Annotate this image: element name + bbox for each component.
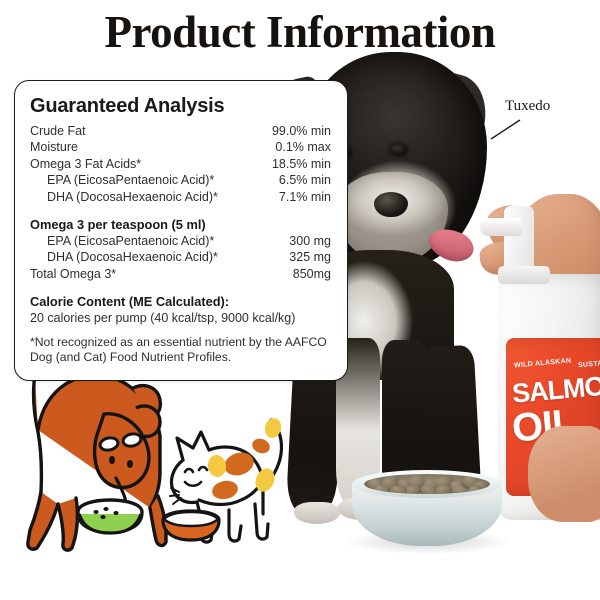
row-label: Omega 3 Fat Acids* xyxy=(30,156,141,172)
leader-line-icon xyxy=(488,118,522,142)
calorie-content-text: 20 calories per pump (40 kcal/tsp, 9000 … xyxy=(30,310,331,326)
table-row: Omega 3 Fat Acids* 18.5% min xyxy=(30,156,331,172)
cartoon-dog-bowl xyxy=(78,500,142,533)
table-row: Moisture 0.1% max xyxy=(30,139,331,155)
analysis-rows: Crude Fat 99.0% min Moisture 0.1% max Om… xyxy=(30,123,331,205)
guaranteed-analysis-panel: Guaranteed Analysis Crude Fat 99.0% min … xyxy=(14,80,348,381)
table-row: Crude Fat 99.0% min xyxy=(30,123,331,139)
row-value: 7.1% min xyxy=(279,189,331,205)
row-label: EPA (EicosaPentaenoic Acid)* xyxy=(30,172,214,188)
table-row: DHA (DocosaHexaenoic Acid)* 7.1% min xyxy=(30,189,331,205)
row-label: DHA (DocosaHexaenoic Acid)* xyxy=(30,189,218,205)
bottle-nozzle xyxy=(480,218,522,236)
food-bowl xyxy=(352,468,502,550)
table-row: DHA (DocosaHexaenoic Acid)* 325 mg xyxy=(30,249,331,265)
dog-paw xyxy=(294,502,340,524)
page-title: Product Information xyxy=(0,6,600,58)
row-value: 325 mg xyxy=(289,249,331,265)
row-label: DHA (DocosaHexaenoic Acid)* xyxy=(30,249,218,265)
row-value: 18.5% min xyxy=(272,156,331,172)
cartoon-dog-illustration xyxy=(8,352,178,557)
product-information-page: WILD ALASKAN SUSTAINABLE SALMON OIL Tuxe… xyxy=(0,0,600,600)
dog-nose xyxy=(374,192,408,217)
row-value: 6.5% min xyxy=(279,172,331,188)
calorie-section-title: Calorie Content (ME Calculated): xyxy=(30,293,331,310)
table-row: Total Omega 3* 850mg xyxy=(30,266,331,282)
row-label: EPA (EicosaPentaenoic Acid)* xyxy=(30,233,214,249)
panel-heading: Guaranteed Analysis xyxy=(30,95,331,118)
table-row: EPA (EicosaPentaenoic Acid)* 300 mg xyxy=(30,233,331,249)
cartoon-cat-illustration xyxy=(155,388,290,563)
row-value: 99.0% min xyxy=(272,123,331,139)
row-label: Crude Fat xyxy=(30,123,86,139)
row-label: Moisture xyxy=(30,139,78,155)
row-label: Total Omega 3* xyxy=(30,266,116,282)
bottle-collar xyxy=(498,266,550,284)
hand-lower-fingers xyxy=(528,426,600,522)
cartoon-cat-bowl xyxy=(163,511,219,540)
bottle-label-tagline: WILD ALASKAN xyxy=(514,358,572,370)
bottle-label-tagline-secondary: SUSTAINABLE xyxy=(578,358,600,370)
table-row: EPA (EicosaPentaenoic Acid)* 6.5% min xyxy=(30,172,331,188)
bowl-kibble-area xyxy=(364,474,490,494)
row-value: 0.1% max xyxy=(275,139,331,155)
row-value: 850mg xyxy=(293,266,331,282)
teaspoon-rows: EPA (EicosaPentaenoic Acid)* 300 mg DHA … xyxy=(30,233,331,282)
teaspoon-section-title: Omega 3 per teaspoon (5 ml) xyxy=(30,216,331,233)
tuxedo-callout-label: Tuxedo xyxy=(505,98,550,115)
row-value: 300 mg xyxy=(289,233,331,249)
footnote-text: *Not recognized as an essential nutrient… xyxy=(30,335,331,366)
